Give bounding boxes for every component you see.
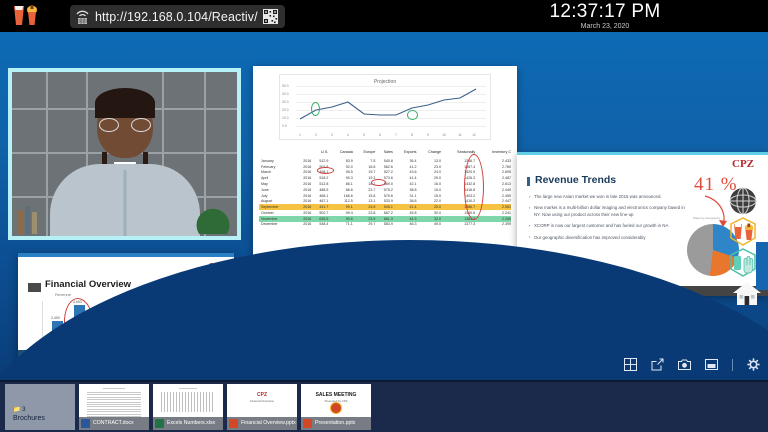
slide-footer-progress	[517, 286, 675, 296]
bar-category: 2016	[74, 346, 82, 350]
podium-icon[interactable]	[10, 3, 42, 29]
x-tick: 4	[347, 133, 349, 137]
toolbar-divider	[732, 359, 733, 371]
bar-category: 2015	[52, 346, 60, 350]
col-month	[259, 150, 296, 158]
x-tick: 7	[395, 133, 397, 137]
mini-chart-gross-profit: Gross Profit 2,100 3,800 2015 2016	[100, 301, 162, 351]
annotation-green-oval	[311, 102, 320, 116]
folder-count: 📁 3	[13, 406, 25, 413]
table-cell: 49.0	[417, 222, 441, 228]
projection-line	[296, 84, 492, 128]
clock-time: 12:37:17 PM	[530, 2, 680, 22]
x-tick: 3	[331, 133, 333, 137]
qr-code-icon[interactable]	[263, 9, 278, 25]
annotation-red-oval-march	[317, 167, 334, 174]
bar-value: 3,800	[141, 306, 150, 310]
bar-category: 2016	[210, 346, 218, 350]
x-tick: 9	[427, 133, 429, 137]
mini-chart-label: Revenue	[32, 292, 94, 297]
tray-item-thumbnail	[79, 384, 149, 417]
plant	[193, 190, 233, 234]
y-tick: 40.0	[269, 330, 275, 334]
share-export-icon[interactable]	[651, 358, 664, 371]
mini-chart-label: Gross Profit	[100, 292, 162, 297]
bullet-item: The large new Asian market we won in lat…	[529, 194, 689, 200]
sheet-grid	[161, 392, 215, 412]
table-cell: 1377.3	[441, 222, 475, 228]
file-tray[interactable]: 📁 3BrochuresCONTRACT.docxExcels Numbers.…	[0, 382, 768, 432]
powerpoint-icon	[303, 419, 312, 428]
col-sales: Sales	[375, 150, 392, 158]
revenue-trends-title: Revenue Trends	[535, 174, 616, 186]
x-tick: 11	[458, 133, 462, 137]
annotation-green-line	[168, 309, 234, 319]
address-bar[interactable]: http://192.168.0.104/Reactiv/	[70, 5, 285, 28]
clock-date: March 23, 2020	[530, 23, 680, 30]
title-marker	[28, 283, 41, 292]
cpz-logo: CPZ	[732, 158, 754, 170]
bottom-toolbar	[0, 356, 768, 380]
col-europe: Europe	[353, 150, 376, 158]
table-cell: 2016	[296, 222, 311, 228]
grid-layout-icon[interactable]	[624, 358, 637, 371]
top-bar: http://192.168.0.104/Reactiv/ 12:37:17 P…	[0, 0, 768, 32]
bar-category: 2015	[118, 346, 126, 350]
table-cell: 71.1	[328, 222, 352, 228]
mini-chart-operating-expenses: Operating Expenses 3,300 3,200 2015 2016	[168, 301, 230, 351]
y-tick: 10.0	[282, 116, 289, 120]
tray-item-thumbnail: SALES MEETINGPresented by CPZ	[301, 384, 371, 417]
tray-item[interactable]: CONTRACT.docx	[79, 384, 149, 430]
slide-accent-bar	[18, 253, 234, 257]
minimize-icon[interactable]	[705, 358, 718, 371]
tray-item[interactable]: 📁 3Brochures	[5, 384, 75, 430]
tray-item[interactable]: Excels Numbers.xlsx	[153, 384, 223, 430]
bar-value: 2,100	[117, 318, 126, 322]
pie-chart-title: Sales by Geography	[693, 216, 720, 220]
word-icon	[81, 419, 90, 428]
financial-overview-slide[interactable]: Financial Overview CPZ Revenue 2,400 4,6…	[18, 253, 234, 359]
x-tick: 12	[472, 133, 476, 137]
home-icon[interactable]	[732, 280, 762, 306]
table-cell: 548.4	[311, 222, 328, 228]
glasses-icon	[99, 118, 151, 132]
projection-chart[interactable]: Projection 50.0 40.0 30.0 20.0 10.0 0.0 …	[279, 74, 491, 140]
annotation-red-oval-may	[371, 179, 386, 186]
col-canada: Canada	[328, 150, 352, 158]
tray-item[interactable]: CPZFinancial OverviewFinancial Overview.…	[227, 384, 297, 430]
bar-value: 2,400	[51, 316, 60, 320]
document-viewer[interactable]: Projection 50.0 40.0 30.0 20.0 10.0 0.0 …	[253, 66, 517, 366]
cpz-logo: CPZ	[209, 262, 227, 271]
annotation-green-oval	[161, 311, 185, 322]
url-text[interactable]: http://192.168.0.104/Reactiv/	[95, 10, 258, 24]
thumb-subtitle: Financial Overview	[227, 399, 297, 403]
bar-category: 2015	[186, 346, 194, 350]
market-share-title: Market Share	[407, 323, 440, 329]
tray-item[interactable]: SALES MEETINGPresented by CPZPresentatio…	[301, 384, 371, 430]
y-tick: 30.0	[269, 339, 275, 343]
webcam-feed[interactable]	[8, 68, 241, 240]
powerpoint-icon	[229, 419, 238, 428]
tray-item-thumbnail	[153, 384, 223, 417]
settings-gear-icon[interactable]	[747, 358, 760, 371]
y-tick: 20.0	[282, 108, 289, 112]
title-marker	[527, 177, 530, 186]
globe-icon[interactable]	[728, 186, 758, 216]
table-cell: December	[259, 222, 296, 228]
person-torso	[50, 164, 200, 240]
table-cell: 2.399	[475, 222, 511, 228]
bullet-item: XCORP is now our largest customer and ha…	[529, 223, 689, 229]
y-tick: 30.0	[282, 100, 289, 104]
thumb-title: CPZ	[227, 392, 297, 398]
bullet-item: Our geographic diversification has impro…	[529, 235, 689, 241]
camera-icon[interactable]	[678, 358, 691, 371]
y-tick: 20.0	[269, 348, 275, 352]
hand-pointer-icon[interactable]	[728, 248, 758, 278]
col-us: U.S.	[311, 150, 328, 158]
x-tick: 5	[363, 133, 365, 137]
wifi-icon	[75, 9, 90, 25]
sales-chart-title: Sales	[266, 320, 382, 326]
tray-item-label: Brochures	[13, 415, 45, 422]
bullet-item: New market is a multi-billion dollar ima…	[529, 205, 689, 218]
y-tick: 40.0	[282, 92, 289, 96]
x-tick: 2	[315, 133, 317, 137]
table-cell: 46.3	[393, 222, 417, 228]
table-cell: 583.9	[375, 222, 392, 228]
thumb-title: SALES MEETING	[301, 392, 371, 398]
table-cell: 29.7	[353, 222, 376, 228]
x-tick: 10	[442, 133, 446, 137]
annotation-red-oval-change	[464, 154, 484, 220]
y-tick: 0.0	[282, 124, 287, 128]
desktop-canvas[interactable]: Financial Overview CPZ Revenue 2,400 4,6…	[0, 32, 768, 380]
x-tick: 1	[299, 133, 301, 137]
mini-chart-label: Operating Expenses	[168, 292, 230, 297]
revenue-trends-bullets: The large new Asian market we won in lat…	[529, 194, 689, 246]
podium-icon[interactable]	[728, 217, 758, 247]
y-tick: 50.0	[282, 84, 289, 88]
cpz-logo-footer: CPZ	[214, 343, 228, 350]
x-tick: 8	[411, 133, 413, 137]
doc-preview	[87, 388, 141, 417]
excel-icon	[155, 419, 164, 428]
col-inventory: Inventory C	[475, 150, 511, 158]
slide-footer	[517, 286, 768, 296]
bar-value: 3,300	[185, 307, 194, 311]
thumb-graphic	[330, 402, 342, 414]
clock: 12:37:17 PM March 23, 2020	[530, 2, 680, 30]
bar-category: 2016	[142, 346, 150, 350]
bar-value: 3,200	[209, 308, 218, 312]
col-exports: Exports	[393, 150, 417, 158]
table-row[interactable]: December2016548.471.129.7583.946.349.013…	[259, 222, 511, 228]
y-tick: 50.0	[269, 321, 275, 325]
annotation-green-oval	[407, 110, 418, 120]
col-year	[296, 150, 311, 158]
col-change: Change	[417, 150, 441, 158]
hair	[95, 88, 155, 118]
x-tick: 6	[379, 133, 381, 137]
tray-item-thumbnail: CPZFinancial Overview	[227, 384, 297, 417]
slide-accent-bar	[517, 152, 768, 155]
financial-overview-title: Financial Overview	[45, 279, 131, 290]
